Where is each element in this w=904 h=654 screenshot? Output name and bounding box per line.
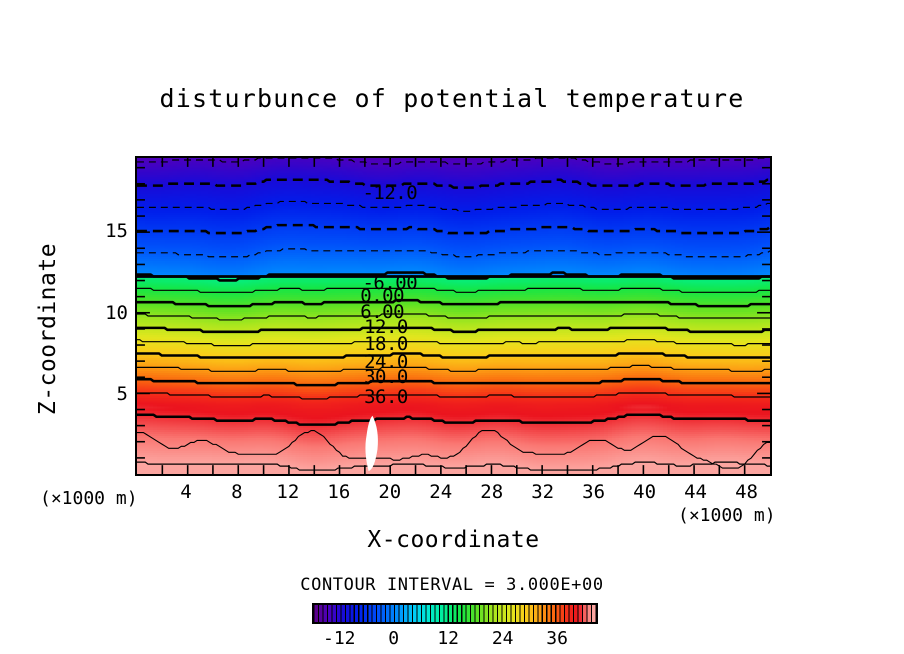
colorbar-tick-label: 36	[546, 628, 568, 649]
y-tick-label: 15	[105, 220, 128, 242]
colorbar-ticks: -120122436	[312, 628, 598, 652]
page-title: disturbunce of potential temperature	[0, 84, 904, 113]
colorbar	[312, 603, 598, 624]
y-axis-title: Z-coordinate	[35, 229, 61, 429]
y-tick-label: 10	[105, 302, 128, 324]
contour-interval-caption: CONTOUR INTERVAL = 3.000E+00	[0, 575, 904, 595]
colorbar-tick-label: 12	[437, 628, 459, 649]
x-tick-label: 48	[735, 481, 758, 503]
x-tick-label: 36	[582, 481, 605, 503]
x-tick-label: 12	[276, 481, 299, 503]
x-axis-ticks: 4812162024283236404448	[135, 481, 772, 507]
contour-plot-area	[135, 156, 772, 476]
x-tick-label: 8	[231, 481, 242, 503]
x-tick-label: 40	[633, 481, 656, 503]
x-tick-label: 16	[327, 481, 350, 503]
x-axis-units: (×1000 m)	[678, 505, 776, 526]
x-tick-label: 28	[480, 481, 503, 503]
x-tick-label: 24	[429, 481, 452, 503]
x-tick-label: 20	[378, 481, 401, 503]
colorbar-tick-label: 24	[492, 628, 514, 649]
y-tick-label: 5	[117, 383, 128, 405]
colorbar-tick-label: -12	[323, 628, 356, 649]
x-axis-title: X-coordinate	[135, 527, 772, 553]
x-tick-label: 44	[684, 481, 707, 503]
x-tick-label: 4	[180, 481, 191, 503]
colorbar-gradient	[314, 605, 596, 622]
x-tick-label: 32	[531, 481, 554, 503]
contour-field	[137, 158, 770, 474]
y-axis-units: (×1000 m)	[40, 488, 138, 509]
colorbar-tick-label: 0	[388, 628, 399, 649]
y-axis-ticks: 51015	[88, 156, 128, 476]
